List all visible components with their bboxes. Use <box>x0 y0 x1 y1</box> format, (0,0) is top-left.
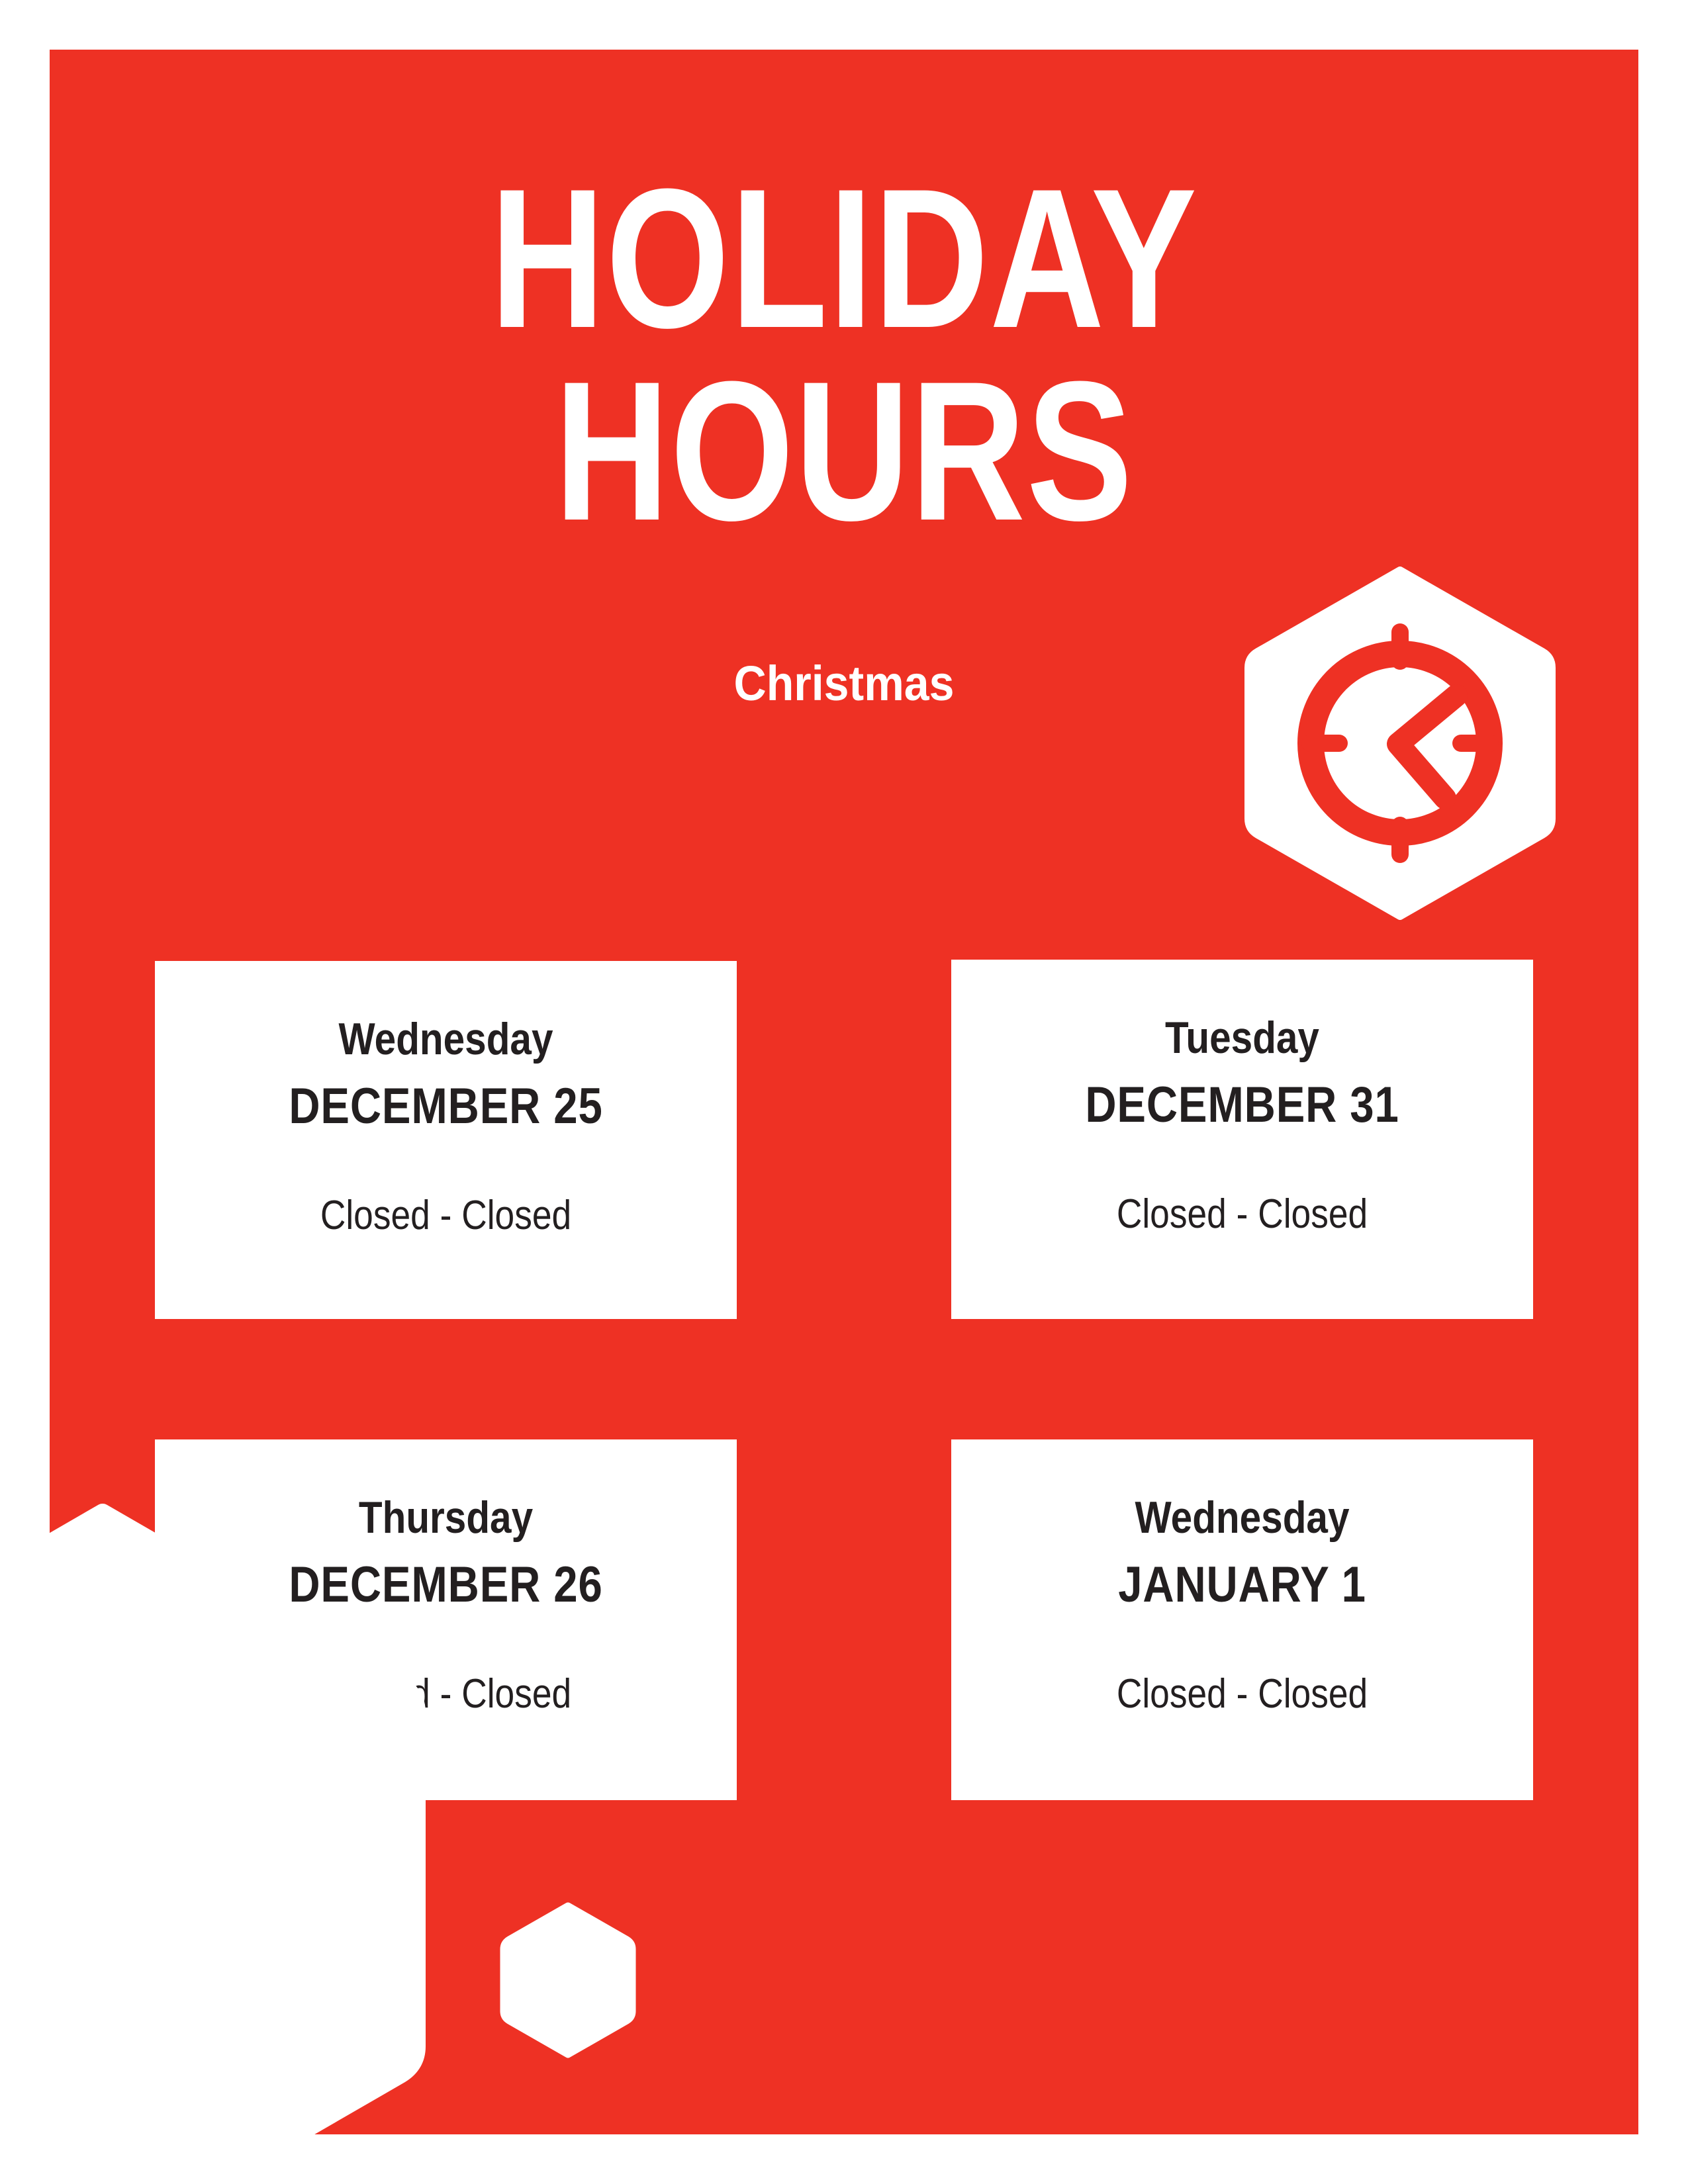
card-date: DECEMBER 31 <box>992 1080 1493 1130</box>
holiday-card: Wednesday JANUARY 1 Closed - Closed <box>951 1439 1533 1800</box>
card-day: Wednesday <box>992 1495 1493 1540</box>
card-hours: Closed - Closed <box>196 1195 696 1236</box>
clock-badge <box>1244 567 1556 920</box>
card-date-wrap: JANUARY 1 <box>951 1560 1533 1610</box>
page-title-line-1: HOLIDAY <box>209 162 1479 355</box>
clock-icon <box>1244 567 1556 920</box>
holiday-hours-poster: HOLIDAY HOURS Christmas Wednesday DECEMB… <box>50 50 1638 2134</box>
decorative-hexagon-large <box>50 1499 434 2134</box>
card-day-wrap: Wednesday <box>951 1495 1533 1540</box>
card-day-wrap: Tuesday <box>951 1015 1533 1060</box>
card-hours-wrap: Closed - Closed <box>951 1674 1533 1715</box>
card-day: Wednesday <box>196 1017 696 1062</box>
decorative-hexagon-small <box>500 1902 636 2058</box>
card-day-wrap: Wednesday <box>155 1017 737 1062</box>
hexagon-icon <box>50 1499 434 2134</box>
card-hours-wrap: Closed - Closed <box>155 1195 737 1236</box>
card-date-wrap: DECEMBER 31 <box>951 1080 1533 1130</box>
holiday-card: Tuesday DECEMBER 31 Closed - Closed <box>951 960 1533 1319</box>
hexagon-icon <box>500 1902 636 2058</box>
card-hours-wrap: Closed - Closed <box>951 1194 1533 1235</box>
card-date: DECEMBER 25 <box>196 1081 696 1132</box>
holiday-card: Wednesday DECEMBER 25 Closed - Closed <box>155 961 737 1319</box>
card-hours: Closed - Closed <box>992 1674 1493 1715</box>
card-date-wrap: DECEMBER 25 <box>155 1081 737 1132</box>
card-day: Tuesday <box>992 1015 1493 1060</box>
card-hours: Closed - Closed <box>992 1194 1493 1235</box>
page-title: HOLIDAY HOURS <box>209 162 1479 547</box>
card-date: JANUARY 1 <box>992 1560 1493 1610</box>
page-title-line-2: HOURS <box>209 355 1479 547</box>
